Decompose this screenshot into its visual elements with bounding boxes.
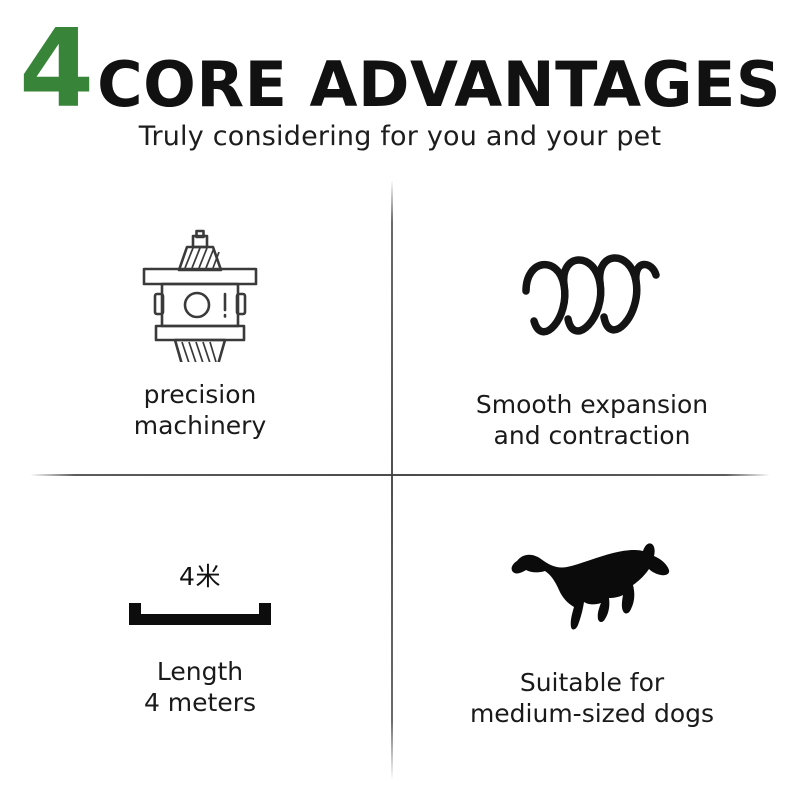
bracket-shape — [125, 601, 275, 627]
quadrant-smooth-expansion: Smooth expansion and contraction — [394, 190, 790, 470]
page-title: CORE ADVANTAGES — [97, 54, 781, 116]
caption-line-1: precision — [134, 380, 267, 411]
big-number-4: 4 — [19, 24, 91, 117]
horizontal-divider — [30, 474, 770, 476]
caption-line-2: 4 meters — [144, 688, 256, 719]
quadrant-length: 4米 Length 4 meters — [10, 492, 390, 777]
caption-smooth-expansion: Smooth expansion and contraction — [476, 390, 708, 451]
quadrant-precision-machinery: precision machinery — [10, 190, 390, 470]
icon-container — [509, 532, 675, 642]
caption-dog-size: Suitable for medium-sized dogs — [470, 668, 714, 729]
caption-length: Length 4 meters — [144, 657, 256, 718]
page-subtitle: Truly considering for you and your pet — [0, 121, 800, 152]
caption-line-1: Length — [144, 657, 256, 688]
running-dog-icon — [509, 535, 675, 639]
title-row: 4 CORE ADVANTAGES — [0, 28, 800, 117]
icon-container: 4米 — [125, 537, 275, 647]
infographic-page: 4 CORE ADVANTAGES Truly considering for … — [0, 0, 800, 800]
vertical-divider — [391, 180, 393, 780]
caption-precision-machinery: precision machinery — [134, 380, 267, 441]
icon-container — [130, 222, 270, 362]
caption-line-1: Suitable for — [470, 668, 714, 699]
caption-line-1: Smooth expansion — [476, 390, 708, 421]
measurement-bracket-icon: 4米 — [125, 557, 275, 627]
coil-spring-icon — [512, 245, 672, 355]
caption-line-2: and contraction — [476, 421, 708, 452]
caption-line-2: machinery — [134, 411, 267, 442]
caption-line-2: medium-sized dogs — [470, 699, 714, 730]
icon-container — [512, 240, 672, 360]
header: 4 CORE ADVANTAGES Truly considering for … — [0, 28, 800, 152]
gearbox-machinery-icon — [130, 222, 270, 362]
measurement-label: 4米 — [179, 557, 221, 593]
quadrant-dog-size: Suitable for medium-sized dogs — [394, 492, 790, 777]
